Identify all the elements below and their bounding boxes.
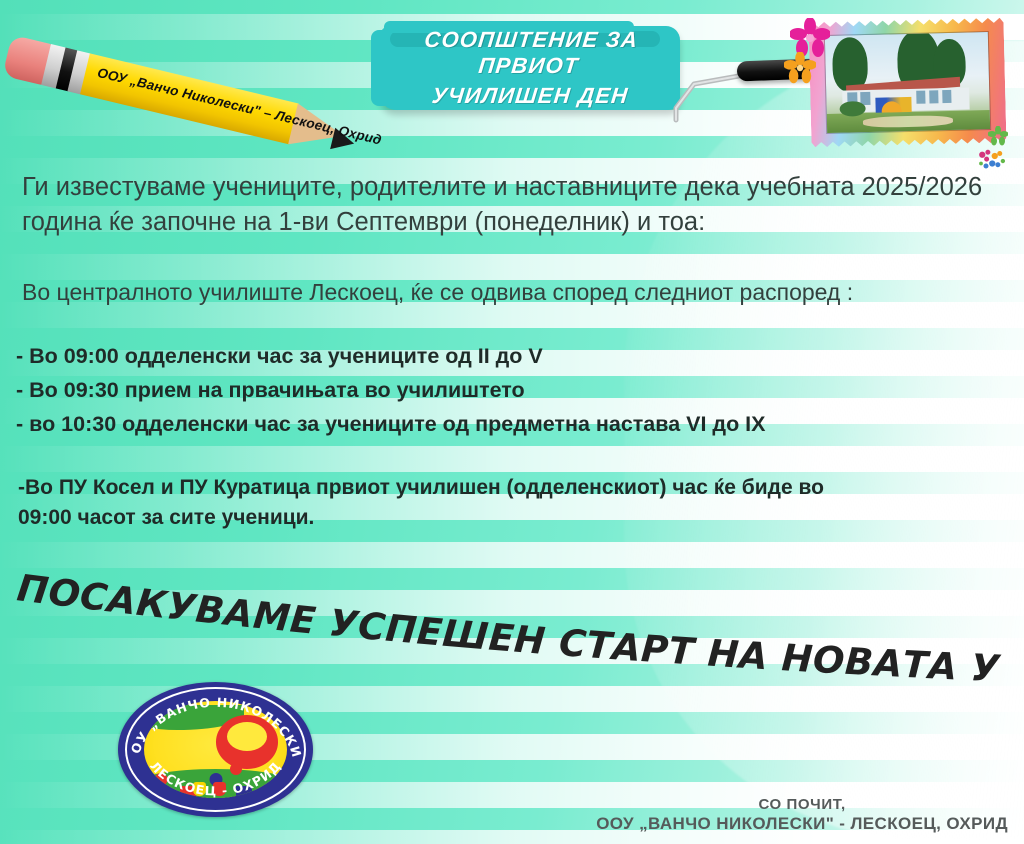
- schedule-item: - во 10:30 одделенски час за учениците о…: [16, 408, 1006, 442]
- flower-orange-icon: [784, 52, 816, 89]
- flower-cluster-icon: [976, 148, 1006, 179]
- banner-title-line-1: СООПШТЕНИЕ ЗА ПРВИОТ: [377, 27, 682, 79]
- banner-text-block: СООПШТЕНИЕ ЗА ПРВИОТ УЧИЛИШЕН ДЕН: [380, 26, 680, 110]
- schedule-list: - Во 09:00 одделенски час за учениците о…: [16, 340, 1006, 442]
- schedule-item: - Во 09:30 прием на првачињата во училиш…: [16, 374, 1006, 408]
- signature-line-1: СО ПОЧИТ,: [596, 796, 1008, 814]
- branch-schools-note: -Во ПУ Косел и ПУ Куратица првиот училиш…: [18, 473, 1018, 534]
- school-photo: [825, 32, 990, 133]
- title-banner: СООПШТЕНИЕ ЗА ПРВИОТ УЧИЛИШЕН ДЕН: [380, 26, 680, 110]
- central-school-paragraph: Во централното училиште Лескоец, ќе се о…: [22, 277, 1007, 309]
- intro-paragraph: Ги известуваме учениците, родителите и н…: [22, 170, 1007, 240]
- school-photo-frame: [809, 18, 1007, 148]
- school-logo: ООУ „ВАНЧО НИКОЛЕСКИ" ЛЕСКОЕЦ - ОХРИД: [118, 682, 313, 817]
- banner-title-line-2: УЧИЛИШЕН ДЕН: [430, 83, 629, 109]
- photo-window-5: [942, 90, 952, 103]
- logo-bottom-text-arc: ЛЕСКОЕЦ - ОХРИД: [118, 682, 313, 817]
- svg-text:ЛЕСКОЕЦ - ОХРИД: ЛЕСКОЕЦ - ОХРИД: [147, 758, 284, 798]
- schedule-item: - Во 09:00 одделенски час за учениците о…: [16, 340, 1006, 374]
- signature-line-2: ООУ „ВАНЧО НИКОЛЕСКИ" - ЛЕСКОЕЦ, ОХРИД: [596, 814, 1008, 834]
- photo-window-3: [916, 91, 926, 104]
- photo-window-4: [929, 90, 939, 103]
- signature-block: СО ПОЧИТ, ООУ „ВАНЧО НИКОЛЕСКИ" - ЛЕСКОЕ…: [596, 796, 1008, 834]
- poster-canvas: ООУ „Ванчо Николески" – Лескоец, Охрид С…: [0, 0, 1024, 844]
